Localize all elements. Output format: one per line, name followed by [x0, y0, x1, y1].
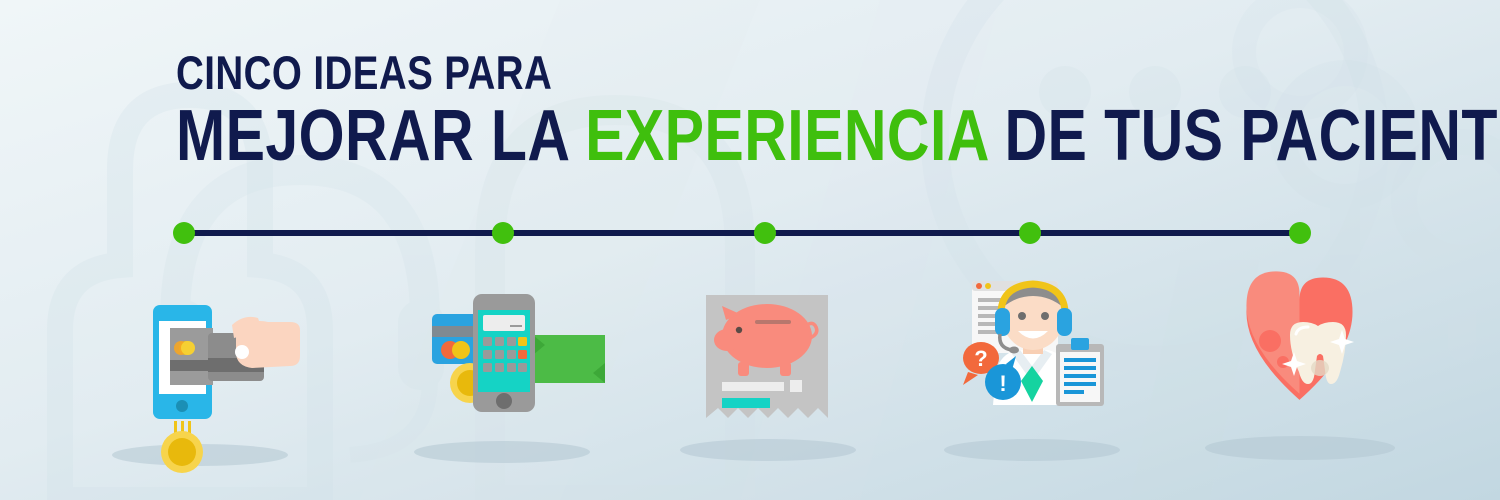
timeline-dot-2[interactable] [492, 222, 514, 244]
title-line-2: MEJORAR LA EXPERIENCIA DE TUS PACIENTES [176, 100, 1500, 172]
title-part-before: MEJORAR LA [176, 96, 585, 176]
title-line-1: CINCO IDEAS PARA [176, 50, 1500, 96]
timeline-dot-5[interactable] [1289, 222, 1311, 244]
timeline-dot-3[interactable] [754, 222, 776, 244]
title-part-after: DE TUS PACIENTES [988, 96, 1500, 176]
timeline-dot-1[interactable] [173, 222, 195, 244]
timeline-dot-4[interactable] [1019, 222, 1041, 244]
infographic-banner: CINCO IDEAS PARA MEJORAR LA EXPERIENCIA … [0, 0, 1500, 500]
title-highlight-experiencia: EXPERIENCIA [585, 96, 988, 176]
banner-title: CINCO IDEAS PARA MEJORAR LA EXPERIENCIA … [176, 50, 1500, 172]
